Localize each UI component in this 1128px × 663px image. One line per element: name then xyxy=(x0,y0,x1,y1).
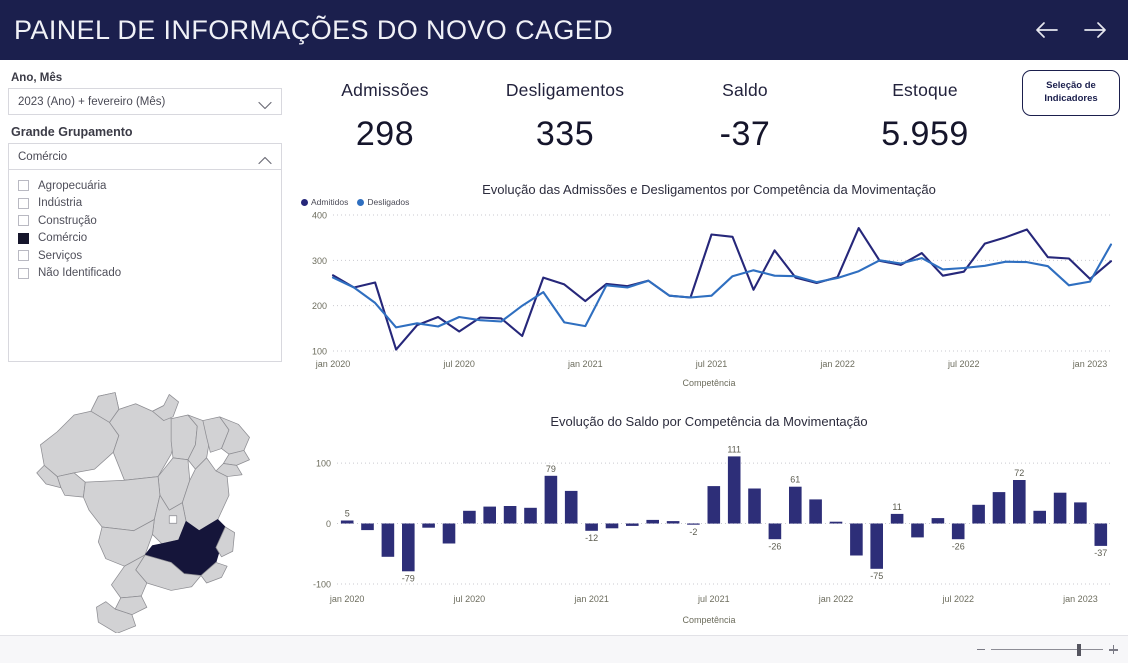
line-chart-title: Evolução das Admissões e Desligamentos p… xyxy=(295,182,1123,197)
kpi-card: Estoque5.959 xyxy=(835,64,1015,179)
svg-text:100: 100 xyxy=(312,347,327,357)
svg-text:jan 2021: jan 2021 xyxy=(573,594,609,604)
kpi-title: Admissões xyxy=(295,80,475,101)
svg-text:0: 0 xyxy=(326,519,331,529)
group-filter-value: Comércio xyxy=(18,151,67,163)
svg-text:-100: -100 xyxy=(313,580,331,590)
svg-text:jul 2021: jul 2021 xyxy=(695,359,728,369)
svg-text:72: 72 xyxy=(1014,468,1024,478)
page-title: PAINEL DE INFORMAÇÕES DO NOVO CAGED xyxy=(14,15,613,46)
arrow-right-icon[interactable] xyxy=(1080,15,1110,45)
group-filter-options: AgropecuáriaIndústriaConstruçãoComércioS… xyxy=(8,170,282,362)
svg-text:jul 2020: jul 2020 xyxy=(442,359,475,369)
checkbox-icon[interactable] xyxy=(18,180,29,191)
brazil-map[interactable] xyxy=(5,378,285,633)
group-option-label: Não Identificado xyxy=(38,267,121,279)
legend-color-dot xyxy=(357,199,364,206)
group-option-row[interactable]: Não Identificado xyxy=(18,265,272,282)
kpi-title: Estoque xyxy=(835,80,1015,101)
svg-text:400: 400 xyxy=(312,211,327,221)
bar-chart-plot: -10001005-7979-12-2111-2661-7511-2672-37… xyxy=(295,429,1123,614)
bar-chart-title: Evolução do Saldo por Competência da Mov… xyxy=(295,414,1123,429)
group-option-label: Comércio xyxy=(38,232,87,244)
svg-text:jan 2023: jan 2023 xyxy=(1072,359,1108,369)
kpi-value: 5.959 xyxy=(835,115,1015,154)
indicator-selection-button[interactable]: Seleção de Indicadores xyxy=(1022,70,1120,116)
svg-text:-26: -26 xyxy=(952,541,965,551)
group-option-row[interactable]: Comércio xyxy=(18,230,272,247)
group-option-row[interactable]: Agropecuária xyxy=(18,177,272,194)
group-option-label: Construção xyxy=(38,215,97,227)
bar-chart-panel: Evolução do Saldo por Competência da Mov… xyxy=(295,414,1123,636)
svg-text:79: 79 xyxy=(546,464,556,474)
svg-text:-2: -2 xyxy=(689,527,697,537)
header-navigation xyxy=(1032,15,1110,45)
period-filter-label: Ano, Mês xyxy=(11,72,282,84)
legend-item[interactable]: Admitidos xyxy=(301,197,348,207)
group-filter-label: Grande Grupamento xyxy=(11,125,282,139)
line-chart-panel: Evolução das Admissões e Desligamentos p… xyxy=(295,182,1123,414)
line-chart-xaxis-label: Competência xyxy=(295,378,1123,388)
group-option-row[interactable]: Construção xyxy=(18,212,272,229)
svg-text:300: 300 xyxy=(312,256,327,266)
zoom-slider[interactable] xyxy=(977,645,1118,654)
svg-text:200: 200 xyxy=(312,301,327,311)
arrow-left-icon[interactable] xyxy=(1032,15,1062,45)
bar-chart-xaxis-label: Competência xyxy=(295,615,1123,625)
svg-text:jan 2020: jan 2020 xyxy=(329,594,365,604)
group-option-label: Agropecuária xyxy=(38,180,106,192)
svg-text:-79: -79 xyxy=(402,573,415,583)
minus-icon[interactable] xyxy=(977,649,985,651)
group-option-label: Indústria xyxy=(38,197,82,209)
svg-text:jul 2021: jul 2021 xyxy=(697,594,730,604)
kpi-cards: Admissões298Desligamentos335Saldo-37Esto… xyxy=(295,64,1015,179)
svg-text:61: 61 xyxy=(790,475,800,485)
group-option-row[interactable]: Serviços xyxy=(18,247,272,264)
indicator-button-line1: Seleção de xyxy=(1046,80,1096,93)
kpi-value: 298 xyxy=(295,115,475,154)
kpi-card: Saldo-37 xyxy=(655,64,835,179)
checkbox-checked-icon[interactable] xyxy=(18,233,29,244)
legend-label: Desligados xyxy=(367,197,409,207)
kpi-title: Desligamentos xyxy=(475,80,655,101)
svg-text:5: 5 xyxy=(345,509,350,519)
kpi-value: 335 xyxy=(475,115,655,154)
svg-text:11: 11 xyxy=(892,502,901,512)
group-filter-dropdown[interactable]: Comércio xyxy=(8,143,282,170)
legend-color-dot xyxy=(301,199,308,206)
svg-text:-75: -75 xyxy=(870,571,883,581)
svg-text:jan 2022: jan 2022 xyxy=(819,359,855,369)
period-filter-dropdown[interactable]: 2023 (Ano) + fevereiro (Mês) xyxy=(8,88,282,115)
chevron-up-icon xyxy=(258,152,272,161)
line-chart-legend: AdmitidosDesligados xyxy=(295,197,1123,207)
checkbox-icon[interactable] xyxy=(18,215,29,226)
kpi-card: Desligamentos335 xyxy=(475,64,655,179)
svg-text:jul 2022: jul 2022 xyxy=(941,594,974,604)
svg-text:-37: -37 xyxy=(1094,548,1107,558)
line-chart-plot: 100200300400jan 2020jul 2020jan 2021jul … xyxy=(295,207,1123,377)
status-bar xyxy=(0,635,1128,663)
svg-text:100: 100 xyxy=(316,459,331,469)
group-option-row[interactable]: Indústria xyxy=(18,195,272,212)
plus-icon[interactable] xyxy=(1109,645,1118,654)
dashboard-root: PAINEL DE INFORMAÇÕES DO NOVO CAGED Ano,… xyxy=(0,0,1128,663)
kpi-card: Admissões298 xyxy=(295,64,475,179)
svg-text:-12: -12 xyxy=(585,533,598,543)
svg-text:jan 2021: jan 2021 xyxy=(567,359,603,369)
zoom-track[interactable] xyxy=(991,649,1103,651)
period-filter-value: 2023 (Ano) + fevereiro (Mês) xyxy=(18,96,165,108)
app-header: PAINEL DE INFORMAÇÕES DO NOVO CAGED xyxy=(0,0,1128,60)
legend-label: Admitidos xyxy=(311,197,348,207)
kpi-value: -37 xyxy=(655,115,835,154)
svg-text:jul 2020: jul 2020 xyxy=(453,594,486,604)
checkbox-icon[interactable] xyxy=(18,268,29,279)
indicator-button-line2: Indicadores xyxy=(1044,93,1097,106)
svg-text:-26: -26 xyxy=(768,541,781,551)
checkbox-icon[interactable] xyxy=(18,198,29,209)
zoom-thumb[interactable] xyxy=(1077,644,1081,656)
svg-text:111: 111 xyxy=(727,444,741,454)
kpi-title: Saldo xyxy=(655,80,835,101)
checkbox-icon[interactable] xyxy=(18,250,29,261)
svg-text:jul 2022: jul 2022 xyxy=(947,359,980,369)
chevron-down-icon xyxy=(258,97,272,106)
svg-text:jan 2020: jan 2020 xyxy=(315,359,351,369)
group-option-label: Serviços xyxy=(38,250,82,262)
svg-text:jan 2023: jan 2023 xyxy=(1062,594,1098,604)
legend-item[interactable]: Desligados xyxy=(357,197,409,207)
svg-text:jan 2022: jan 2022 xyxy=(818,594,854,604)
